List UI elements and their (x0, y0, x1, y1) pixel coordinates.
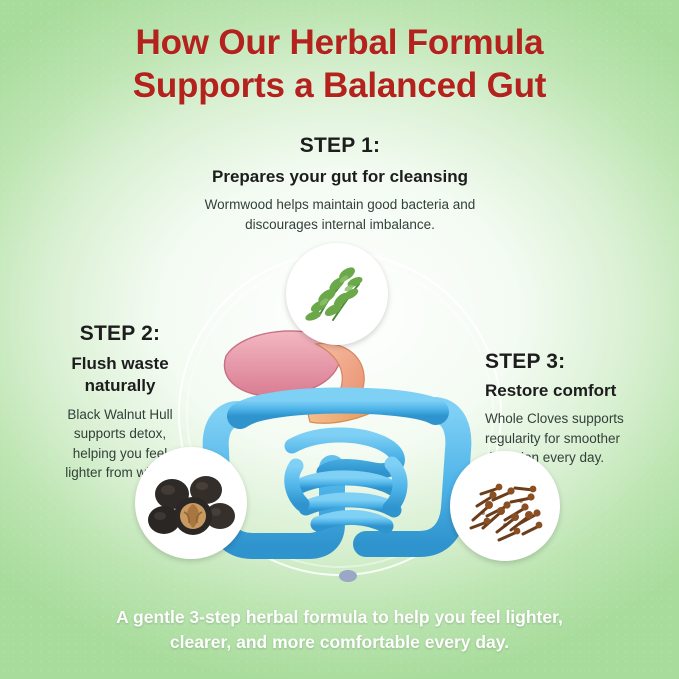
step-1-body: Wormwood helps maintain good bacteria an… (120, 195, 560, 234)
step-2-subtitle-line-2: naturally (85, 376, 156, 395)
step-3-block: STEP 3: Restore comfort Whole Cloves sup… (485, 350, 665, 468)
step-1-block: STEP 1: Prepares your gut for cleansing … (120, 134, 560, 234)
step-2-body-line-1: Black Walnut Hull (67, 407, 172, 422)
step-3-heading: STEP 3: (485, 350, 665, 374)
step-2-heading: STEP 2: (36, 322, 204, 346)
step-1-heading: STEP 1: (120, 134, 560, 158)
title-line-2: Supports a Balanced Gut (0, 65, 679, 108)
footer-line-2: clearer, and more comfortable every day. (0, 630, 679, 655)
page-title: How Our Herbal Formula Supports a Balanc… (0, 22, 679, 107)
title-line-1: How Our Herbal Formula (136, 23, 544, 62)
step-2-body-line-3: helping you feel (73, 446, 168, 461)
step-3-body-line-1: Whole Cloves supports (485, 411, 624, 426)
whole-cloves-photo (450, 451, 560, 561)
footer-tagline: A gentle 3-step herbal formula to help y… (0, 605, 679, 655)
digestive-system-illustration (196, 318, 486, 586)
black-walnut-photo (135, 447, 247, 559)
step-1-body-line-2: discourages internal imbalance. (245, 217, 435, 232)
wormwood-photo (286, 243, 388, 345)
step-1-subtitle: Prepares your gut for cleansing (120, 167, 560, 187)
step-2-subtitle-line-1: Flush waste (71, 354, 168, 373)
step-2-body-line-2: supports detox, (74, 426, 166, 441)
step-2-subtitle: Flush waste naturally (36, 353, 204, 397)
step-3-body-line-2: regularity for smoother (485, 431, 620, 446)
step-1-body-line-1: Wormwood helps maintain good bacteria an… (205, 197, 476, 212)
footer-line-1: A gentle 3-step herbal formula to help y… (116, 607, 563, 627)
step-3-subtitle: Restore comfort (485, 381, 665, 401)
poster-canvas: How Our Herbal Formula Supports a Balanc… (0, 0, 679, 679)
